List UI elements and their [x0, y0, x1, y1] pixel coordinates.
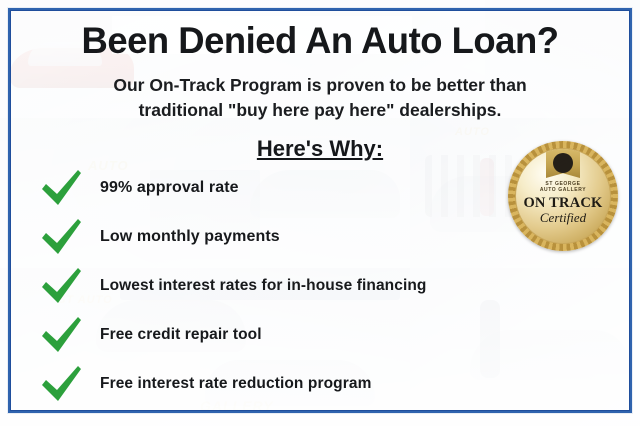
list-item: Free interest rate reduction program	[38, 359, 558, 408]
list-item-label: Lowest interest rates for in-house finan…	[100, 277, 427, 295]
seal-dealer-line-2: AUTO GALLERY	[540, 187, 586, 193]
list-item-label: Free interest rate reduction program	[100, 375, 371, 393]
list-item: Lowest interest rates for in-house finan…	[38, 261, 558, 310]
list-item-label: Low monthly payments	[100, 228, 280, 246]
seal-face: ST GEORGE AUTO GALLERY ON TRACK Certifie…	[515, 148, 611, 244]
seal-dealer-name: ST GEORGE AUTO GALLERY	[540, 181, 586, 194]
green-check-icon	[38, 167, 84, 209]
list-item: 99% approval rate	[38, 163, 558, 212]
subtitle: Our On-Track Program is proven to be bet…	[60, 73, 580, 123]
benefits-list: 99% approval rate Low monthly payments L…	[38, 163, 558, 408]
green-check-icon	[38, 265, 84, 307]
auto-loan-advertisement: AUTO AUTO ST AUTO GALLERY Been Denied An…	[0, 0, 640, 426]
seal-banner	[546, 148, 580, 178]
subtitle-line-2: traditional "buy here pay here" dealersh…	[60, 98, 580, 123]
list-item: Low monthly payments	[38, 212, 558, 261]
list-item: Free credit repair tool	[38, 310, 558, 359]
dealer-emblem-icon	[553, 153, 573, 173]
list-item-label: Free credit repair tool	[100, 326, 262, 344]
green-check-icon	[38, 314, 84, 356]
section-heading-text: Here's Why:	[257, 136, 383, 161]
green-check-icon	[38, 216, 84, 258]
green-check-icon	[38, 363, 84, 405]
page-title: Been Denied An Auto Loan?	[5, 20, 635, 62]
seal-status-label: Certified	[540, 211, 586, 225]
on-track-certified-seal: ST GEORGE AUTO GALLERY ON TRACK Certifie…	[508, 141, 618, 251]
ad-content: Been Denied An Auto Loan? Our On-Track P…	[0, 0, 640, 426]
list-item-label: 99% approval rate	[100, 179, 239, 197]
subtitle-line-1: Our On-Track Program is proven to be bet…	[60, 73, 580, 98]
seal-program-label: ON TRACK	[523, 196, 602, 211]
